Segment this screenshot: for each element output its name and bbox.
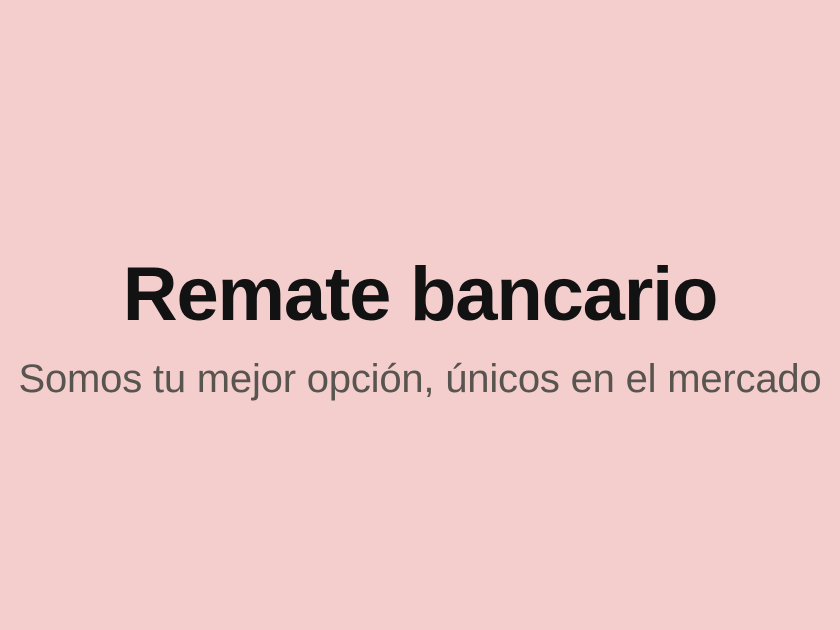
hero-banner: Remate bancario Somos tu mejor opción, ú… — [0, 0, 840, 630]
banner-text-stack: Remate bancario Somos tu mejor opción, ú… — [0, 14, 840, 630]
banner-subtitle: Somos tu mejor opción, únicos en el merc… — [19, 356, 822, 403]
banner-title: Remate bancario — [0, 255, 840, 334]
banner-subtitle-clip: Somos tu mejor opción, únicos en el merc… — [0, 356, 840, 403]
